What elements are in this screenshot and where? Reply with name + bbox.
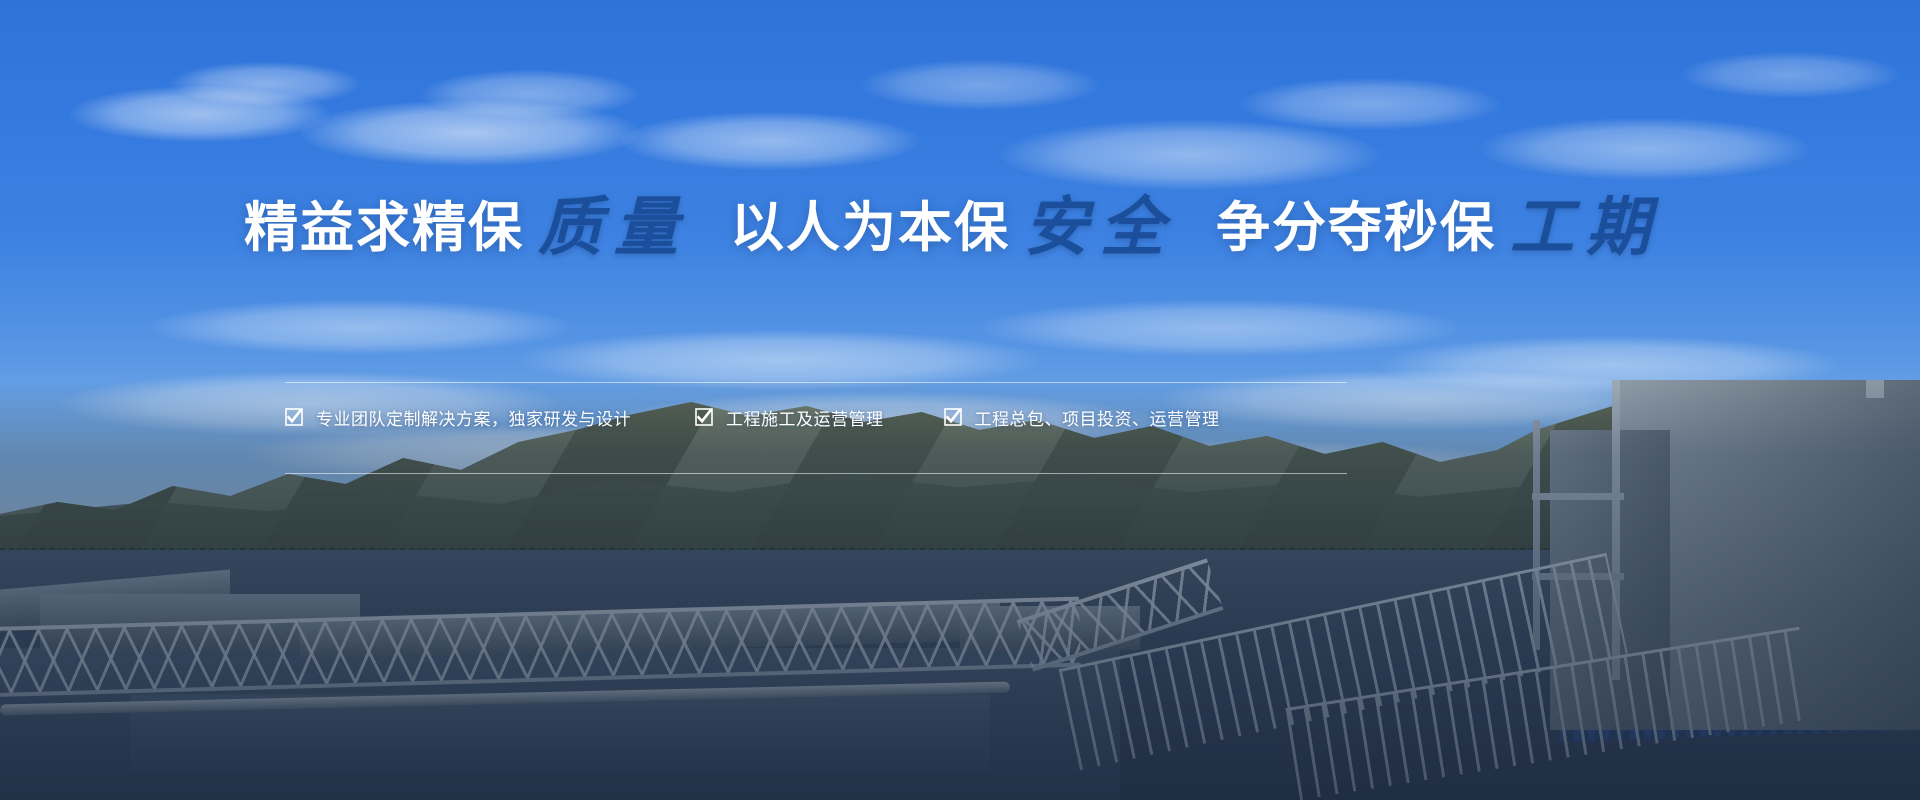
hero-banner: 精益求精保质量以人为本保安全争分夺秒保工期 专业团队定制解决方案，独家研发与设计 [0, 0, 1920, 800]
headline-segment-6-calligraphy: 工期 [1496, 190, 1676, 265]
feature-list: 专业团队定制解决方案，独家研发与设计 工程施工及运营管理 [285, 399, 1347, 435]
headline-segment-1: 精益求精保 [244, 198, 524, 258]
feature-item-3[interactable]: 工程总包、项目投资、运营管理 [944, 405, 1220, 430]
headline-segment-5: 争分夺秒保 [1216, 198, 1496, 258]
banner-content: 精益求精保质量以人为本保安全争分夺秒保工期 专业团队定制解决方案，独家研发与设计 [0, 0, 1920, 800]
divider-top [285, 382, 1347, 383]
headline-segment-4-calligraphy: 安全 [1010, 190, 1190, 265]
headline: 精益求精保质量以人为本保安全争分夺秒保工期 [0, 196, 1920, 260]
headline-segment-2-calligraphy: 质量 [524, 190, 704, 265]
checkbox-checked-icon [944, 408, 962, 426]
feature-item-label: 专业团队定制解决方案，独家研发与设计 [316, 405, 631, 430]
feature-item-1[interactable]: 专业团队定制解决方案，独家研发与设计 [285, 405, 631, 430]
checkbox-checked-icon [695, 408, 713, 426]
feature-item-label: 工程总包、项目投资、运营管理 [975, 405, 1220, 430]
feature-item-label: 工程施工及运营管理 [726, 405, 884, 430]
checkbox-checked-icon [285, 408, 303, 426]
divider-bottom [285, 473, 1347, 474]
headline-segment-3: 以人为本保 [730, 198, 1010, 258]
feature-item-2[interactable]: 工程施工及运营管理 [695, 405, 884, 430]
